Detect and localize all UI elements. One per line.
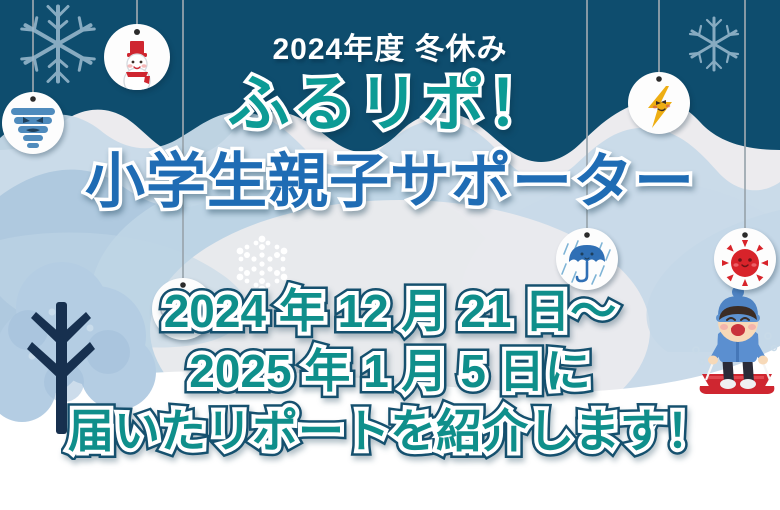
- winter-report-banner: 2024年度 冬休み ふるリポ！ 小学生親子サポーター 2024 年 12 月 …: [0, 0, 780, 510]
- date-line-3: 届いたリポートを紹介します！ 届いたリポートを紹介します！: [0, 408, 780, 454]
- date-text-block: 2024 年 12 月 21 日～ 2024 年 12 月 21 日～ 2025…: [0, 0, 780, 510]
- date-line-1-fill: 2024 年 12 月 21 日～: [164, 285, 617, 337]
- date-line-1: 2024 年 12 月 21 日～ 2024 年 12 月 21 日～: [0, 288, 780, 334]
- date-line-2-fill: 2025 年 1 月 5 日に: [189, 345, 590, 397]
- date-line-2: 2025 年 1 月 5 日に 2025 年 1 月 5 日に: [0, 348, 780, 394]
- date-line-3-fill: 届いたリポートを紹介します！: [68, 405, 712, 457]
